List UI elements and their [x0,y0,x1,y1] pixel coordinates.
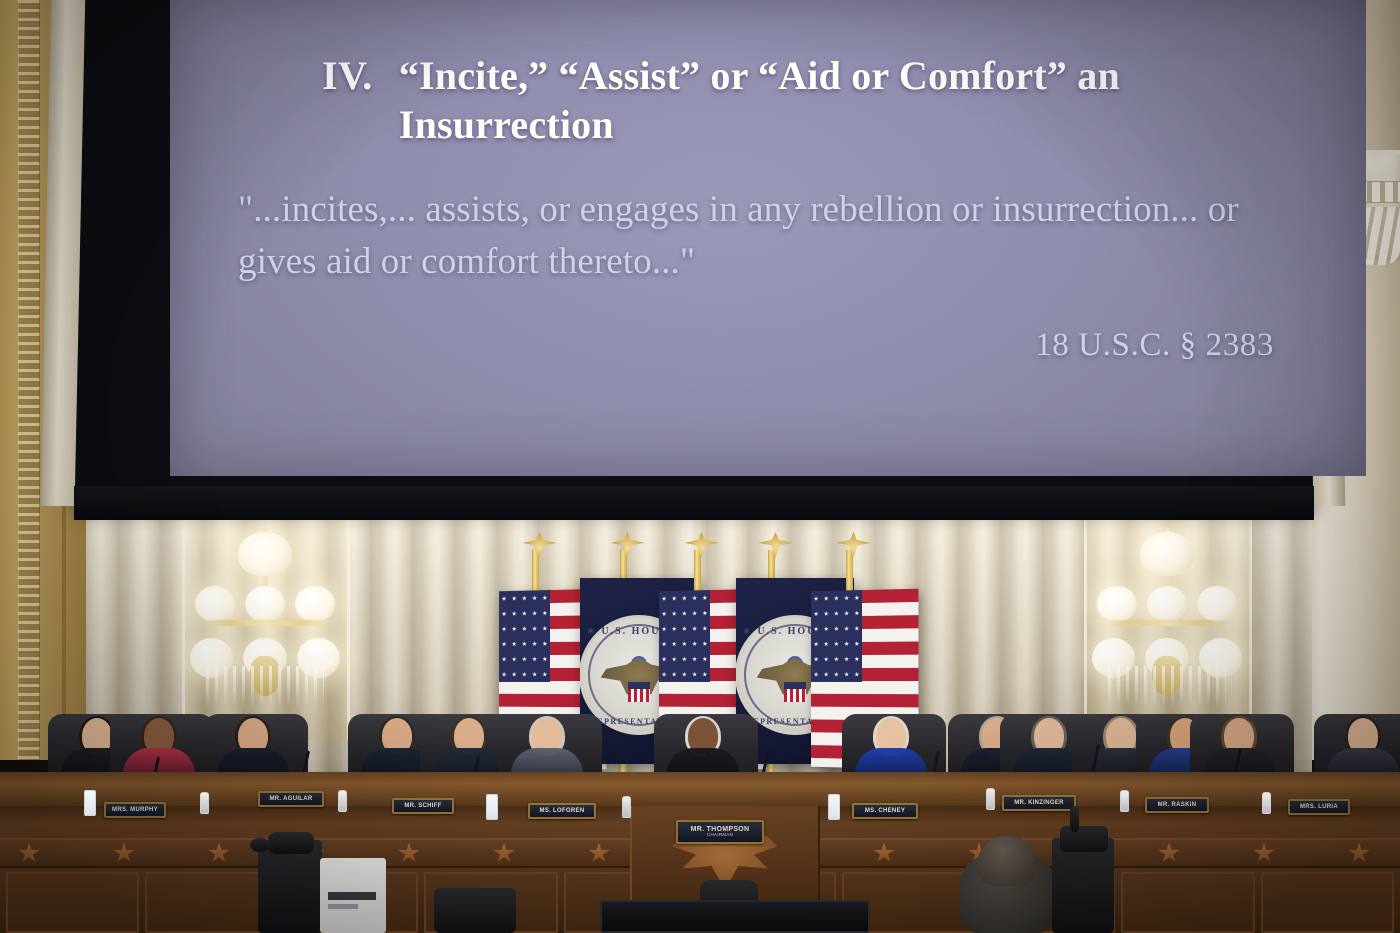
eagle-finial-icon [523,532,557,558]
nameplate: MR. RASKIN [1145,797,1209,813]
water-bottle [200,792,209,814]
nameplate: MR. SCHIFF [392,798,454,814]
nameplate: MRS. LURIA [1288,799,1350,815]
seal-shield-icon [628,682,650,702]
dais-star-icon [588,843,610,864]
preview-monitor [600,900,870,933]
chandelier-crystals [1108,666,1226,708]
dais-star-icon [873,843,895,864]
case-label-secondary [328,904,358,909]
case-label [328,892,376,900]
nameplate-name: MRS. MURPHY [112,807,158,813]
camera-body-left [268,832,314,854]
eagle-finial-icon [837,532,871,558]
projection-screen-bottom-bar [74,486,1314,520]
nameplate-role: CHAIRMAN [707,833,733,838]
slide-number: IV. [322,52,373,101]
nameplate: MR. KINZINGER [1002,795,1076,811]
eagle-finial-icon [685,532,719,558]
nameplate: MR. THOMPSONCHAIRMAN [676,820,764,844]
nameplate-name: MS. CHENEY [865,808,905,814]
eagle-finial-icon [611,532,645,558]
camera-mic-right [1070,806,1079,832]
nameplate: MRS. MURPHY [104,802,166,818]
dais-star-icon [18,843,40,864]
dais-star-icon [1348,843,1370,864]
camera-body-right [1060,826,1108,852]
left-chandelier [190,528,340,718]
nameplate-name: MR. AGUILAR [269,796,312,802]
nameplate-name: MR. RASKIN [1158,802,1197,808]
water-bottle [1262,792,1271,814]
chandelier-top-globe [238,532,292,576]
slide-title: “Incite,” “Assist” or “Aid or Comfort” a… [399,52,1259,150]
chandelier-top-globe [1140,532,1194,576]
chandelier-arms [1106,620,1228,626]
water-bottle [986,788,995,810]
slide-citation: 18 U.S.C. § 2383 [236,327,1300,364]
eagle-finial-icon [759,532,793,558]
projection-screen-surface: IV. “Incite,” “Assist” or “Aid or Comfor… [170,0,1366,476]
dais-star-icon [1158,843,1180,864]
chandelier-tier-upper [190,586,340,622]
dais-star-icon [493,843,515,864]
slide-heading: IV. “Incite,” “Assist” or “Aid or Comfor… [322,52,1300,150]
camera-lens-hood-left [250,838,270,852]
right-chandelier [1092,528,1242,718]
chandelier-arms [204,620,326,626]
flag-canton [811,590,862,682]
nameplate: MR. AGUILAR [258,791,324,807]
flag-canton [499,590,550,682]
dais-star-icon [398,843,420,864]
chandelier-crystals [206,666,324,708]
nameplate-name: MRS. LURIA [1300,804,1338,810]
slide-quote: "...incites,... assists, or engages in a… [238,184,1278,289]
water-bottle [1120,790,1129,812]
dais-star-icon [208,843,230,864]
water-bottle [622,796,631,818]
hand-sanitizer-bottle [84,790,96,816]
projection-screen-frame: IV. “Incite,” “Assist” or “Aid or Comfor… [74,0,1314,506]
hearing-room-photo: ∗ U.S. HOUSE ∗REPRESENTATIVES∗ U.S. HOUS… [0,0,1400,933]
nameplate-name: MS. LOFGREN [540,808,585,814]
hand-sanitizer-bottle [828,794,840,820]
chandelier-tier-upper [1092,586,1242,622]
presentation-slide: IV. “Incite,” “Assist” or “Aid or Comfor… [170,0,1366,476]
seal-shield-icon [784,682,806,702]
nameplate-name: MR. KINZINGER [1014,800,1064,806]
equipment-case [320,858,386,933]
bead-molding [18,0,40,760]
flag-canton [659,590,710,682]
dais-star-icon [113,843,135,864]
operator-head [978,836,1036,886]
nameplate: MS. CHENEY [852,803,918,819]
nameplate: MS. LOFGREN [528,803,596,819]
equipment-base-left [434,888,516,933]
broadcast-camera-right [1052,838,1114,933]
dais-star-icon [1253,843,1275,864]
water-bottle [338,790,347,812]
nameplate-name: MR. SCHIFF [404,803,441,809]
hand-sanitizer-bottle [486,794,498,820]
